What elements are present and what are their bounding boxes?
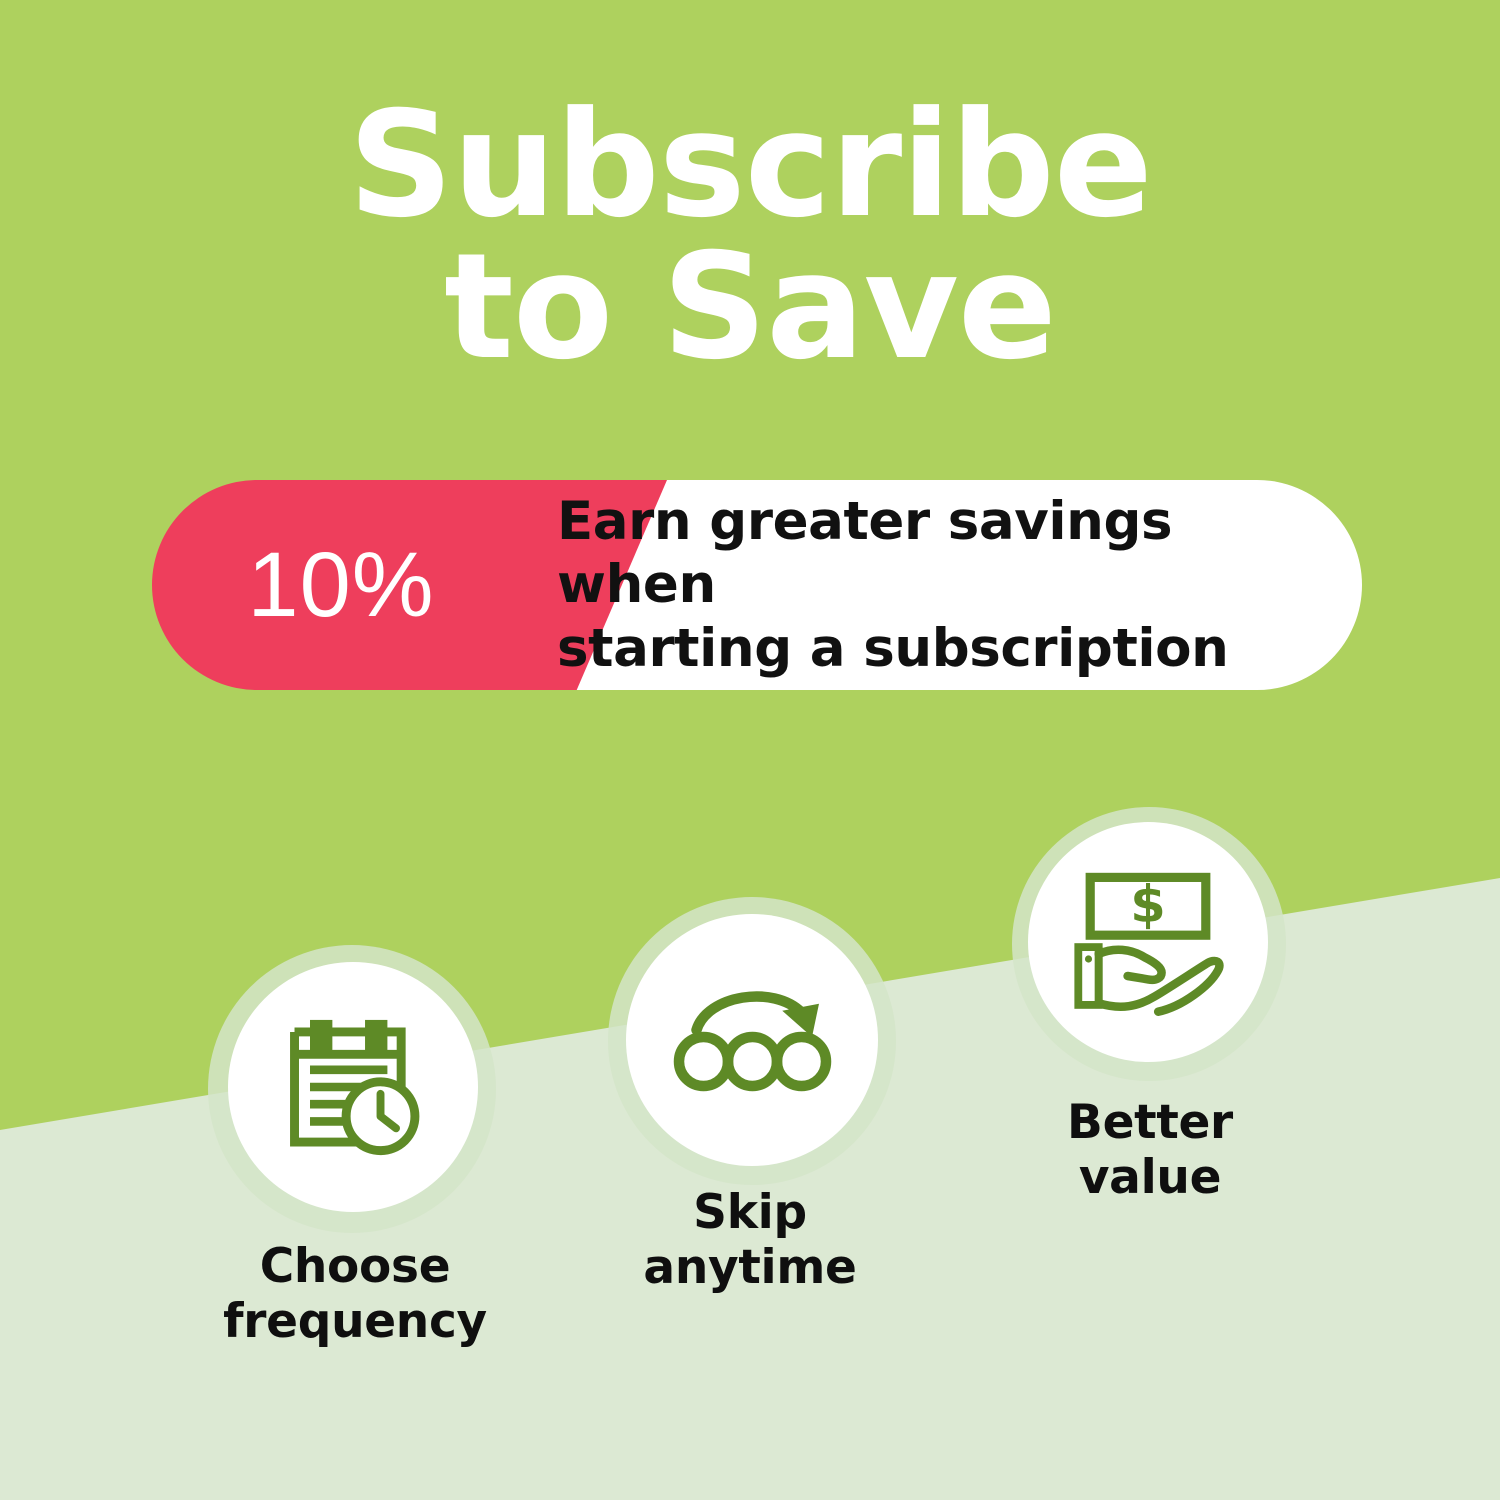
- feature-caption-line-1: Choose: [260, 1239, 451, 1294]
- page-title: Subscribe to Save: [0, 95, 1500, 378]
- feature-caption-line-2: value: [1079, 1150, 1221, 1205]
- feature-caption: Skip anytime: [570, 1186, 930, 1295]
- feature-disc: [626, 914, 878, 1166]
- skip-arrow-icon: [665, 953, 840, 1128]
- promo-banner-message: Earn greater savings when starting a sub…: [557, 480, 1347, 690]
- hand-money-icon: $: [1063, 857, 1233, 1027]
- feature-caption-line-2: anytime: [643, 1240, 856, 1295]
- discount-value: 10%: [152, 480, 512, 690]
- calendar-clock-icon: [267, 1001, 439, 1173]
- feature-caption: Better value: [980, 1096, 1320, 1205]
- feature-disc: [228, 962, 478, 1212]
- promo-graphic: Subscribe to Save 10% Earn greater savin…: [0, 0, 1500, 1500]
- feature-caption: Choose frequency: [170, 1240, 540, 1349]
- feature-caption-line-1: Better: [1067, 1095, 1233, 1150]
- promo-message-line-2: starting a subscription: [557, 617, 1347, 681]
- promo-message-line-1: Earn greater savings when: [557, 490, 1347, 617]
- feature-caption-line-2: frequency: [223, 1294, 487, 1349]
- page-title-line-2: to Save: [0, 237, 1500, 379]
- feature-caption-line-1: Skip: [693, 1185, 807, 1240]
- feature-disc: $: [1028, 822, 1268, 1062]
- promo-banner: 10% Earn greater savings when starting a…: [152, 480, 1362, 690]
- svg-text:$: $: [1130, 876, 1166, 935]
